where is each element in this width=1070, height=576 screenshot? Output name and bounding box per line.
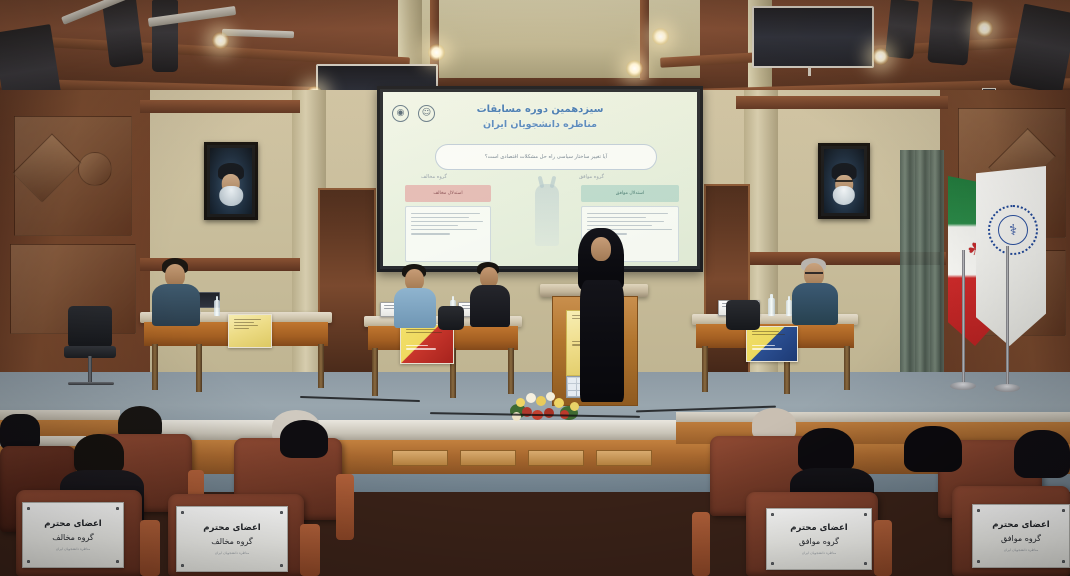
banner-text-lines [231, 317, 269, 345]
beard-shape [833, 186, 855, 205]
presentation-slide: ◉ ☺ سیزدهمین دوره مسابقات مناظره دانشجوی… [383, 92, 697, 266]
slide-question-text: آیا تغییر ساختار سیاسی راه حل مشکلات اقت… [485, 154, 607, 160]
stage-apron-panel-4 [596, 450, 652, 466]
projection-screen: ◉ ☺ سیزدهمین دوره مسابقات مناظره دانشجوی… [377, 86, 703, 272]
flagpole-iran [962, 250, 965, 386]
column-label-agree: گروه موافق [579, 174, 604, 180]
university-emblem-icon: ⚕ [988, 205, 1038, 255]
table-leg-left-1 [152, 344, 158, 390]
hair [904, 426, 962, 472]
wall-trim-right-upper [736, 96, 948, 109]
seat-sign-line3: مناظره دانشجویان ایران [56, 547, 90, 551]
spotlight-4 [626, 60, 643, 77]
flag-base-iran [950, 382, 976, 390]
seat-arm-2 [336, 474, 354, 540]
slide-title-line1: سیزدهمین دوره مسابقات [383, 103, 697, 118]
seat-sign-line3: مناظره دانشجویان ایران [802, 551, 836, 555]
side-door-left[interactable] [318, 188, 376, 384]
flag-university [976, 166, 1046, 346]
torso [470, 285, 510, 327]
seat-sign-4: اعضای محترم گروه موافق مناظره دانشجویان … [972, 504, 1070, 568]
hair [280, 420, 328, 458]
table-banner-right [746, 326, 798, 362]
seat-sign-line2: گروه موافق [799, 537, 839, 547]
seat-sign-3: اعضای محترم گروه موافق مناظره دانشجویان … [766, 508, 872, 570]
stage-apron-panel-1 [392, 450, 448, 466]
spotlight-6 [872, 48, 889, 65]
banner-text-lines [749, 329, 795, 359]
table-leg-left-3 [318, 344, 324, 388]
head [591, 237, 611, 261]
seat-sign-line1: اعضای محترم [992, 520, 1049, 530]
hair [798, 428, 854, 472]
wall-trim-left-upper [140, 100, 300, 113]
water-bottle-r-1 [768, 298, 775, 316]
flower-arrangement [508, 390, 588, 424]
ceiling-speaker-left-2 [152, 0, 178, 72]
stage-chair-back-cl [438, 306, 464, 330]
spotlight-1 [212, 32, 229, 49]
wood-circle-left [78, 152, 112, 186]
seat-sign-line2: گروه مخالف [211, 537, 252, 547]
seat-sign-line1: اعضای محترم [44, 519, 101, 529]
chador-body [580, 280, 624, 402]
spotlight-3 [428, 44, 445, 61]
seat-sign-1: اعضای محترم گروه مخالف مناظره دانشجویان … [22, 502, 124, 568]
column-header-oppose: استدلال مخالف [405, 185, 491, 202]
table-banner-center-left [400, 324, 454, 364]
portrait-khamenei [818, 143, 870, 219]
table-leg-cl-3 [508, 348, 514, 394]
slide-title: سیزدهمین دوره مسابقات مناظره دانشجویان ا… [383, 103, 697, 131]
stage-apron-panel-2 [460, 450, 516, 466]
person-speaker [578, 228, 624, 408]
ceiling-speaker-right-2 [927, 0, 972, 66]
column-label-oppose: گروه مخالف [421, 174, 447, 180]
seat-sign-line3: مناظره دانشجویان ایران [1004, 548, 1038, 552]
seat-arm-front-3 [874, 520, 892, 576]
portrait-khamenei-image [824, 149, 864, 213]
hair [1014, 430, 1070, 478]
spotlight-5 [652, 28, 669, 45]
flagpole-university [1006, 246, 1009, 388]
seat-sign-line1: اعضای محترم [203, 523, 260, 533]
column-header-agree: استدلال موافق [581, 185, 679, 202]
hanging-monitor-right [752, 6, 874, 68]
stage-chair-base-left [68, 382, 114, 385]
table-leg-cl-1 [372, 348, 378, 396]
stage-curtain [900, 150, 944, 380]
slide-question-box: آیا تغییر ساختار سیاسی راه حل مشکلات اقت… [435, 144, 657, 170]
table-banner-left [228, 314, 272, 348]
banner-text-lines [403, 327, 451, 361]
seat-arm-front-4 [692, 512, 710, 576]
auditorium-photo: ◉ ☺ سیزدهمین دوره مسابقات مناظره دانشجوی… [0, 0, 1070, 576]
hair [74, 434, 124, 474]
spotlight-7 [976, 20, 993, 37]
torso [792, 283, 838, 325]
stage-chair-back-r [726, 300, 760, 330]
table-leg-left-2 [196, 344, 202, 392]
university-emblem-inner: ⚕ [998, 215, 1028, 245]
portrait-khomeini-image [210, 148, 252, 214]
stage-chair-back-left [68, 306, 112, 348]
column-body-oppose [405, 206, 491, 262]
seat-sign-line2: گروه موافق [1001, 534, 1041, 544]
torso [152, 284, 200, 326]
torso [394, 288, 436, 328]
portrait-khomeini [204, 142, 258, 220]
hair [0, 414, 40, 450]
seat-sign-line3: مناظره دانشجویان ایران [215, 551, 249, 555]
table-leg-r-3 [844, 346, 850, 390]
seat-sign-2: اعضای محترم گروه مخالف مناظره دانشجویان … [176, 506, 288, 572]
stage-chair-post-left [88, 356, 92, 384]
seat-arm-front-1 [140, 520, 160, 576]
water-bottle-left [214, 300, 220, 316]
seat-sign-line1: اعضای محترم [790, 523, 847, 533]
flag-base-university [994, 384, 1020, 392]
beard-shape [219, 186, 243, 206]
table-leg-r-1 [702, 346, 708, 392]
seat-sign-line2: گروه مخالف [52, 533, 93, 543]
seat-arm-front-2 [300, 524, 320, 576]
glasses-shape [835, 180, 853, 184]
glasses-icon [805, 272, 823, 274]
stage-apron-panel-3 [528, 450, 584, 466]
slide-title-line2: مناظره دانشجویان ایران [383, 118, 697, 132]
slide-speaker-figure-icon [535, 184, 559, 246]
